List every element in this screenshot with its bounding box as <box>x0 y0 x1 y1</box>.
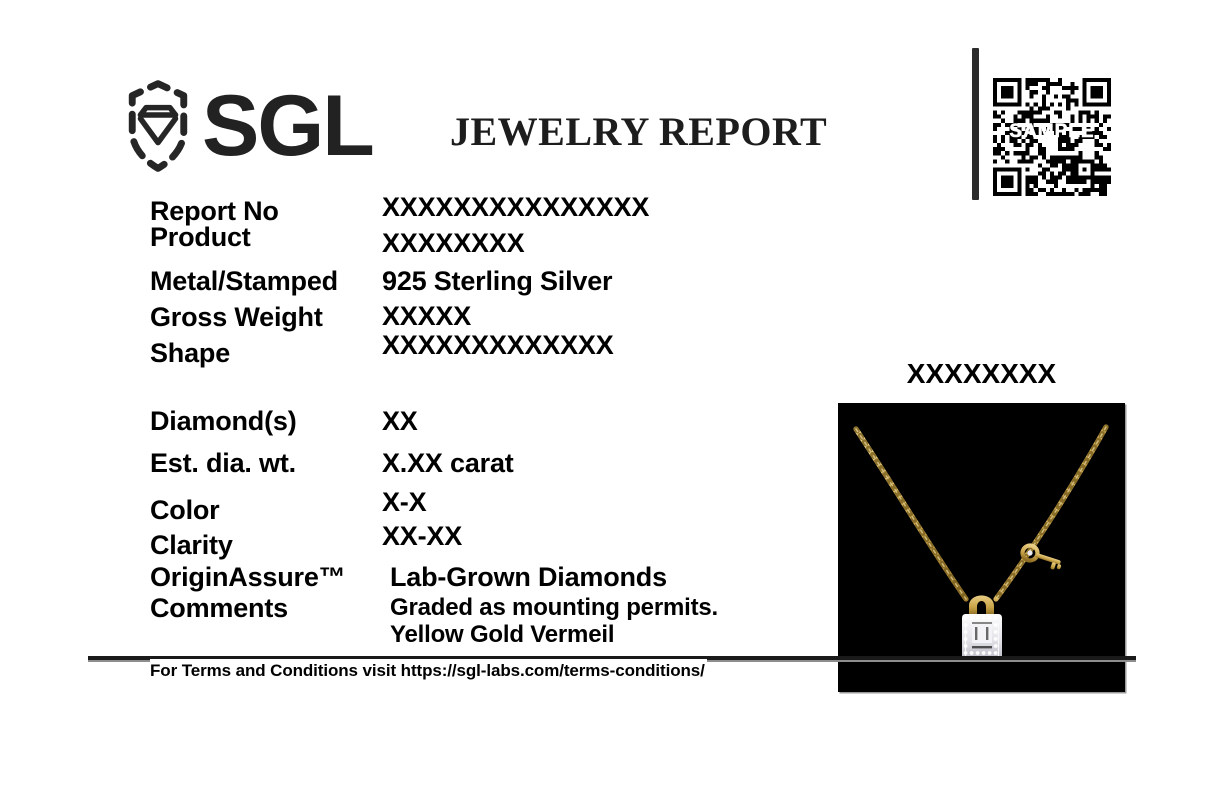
gold-necklace-padlock-pendant-icon <box>838 403 1125 692</box>
field-value: XXXXX <box>382 301 471 332</box>
field-row-metal-stamped: Metal/Stamped 925 Sterling Silver <box>150 266 850 302</box>
field-row-product: Product XXXXXXXX <box>150 228 850 266</box>
field-value: XXXXXXXXXXXXXXX <box>382 192 649 223</box>
field-value: XXXXXXXXXXXXX <box>382 330 614 361</box>
product-photo <box>838 403 1125 692</box>
footer-terms-text: For Terms and Conditions visit https://s… <box>150 659 707 681</box>
field-row-clarity: Clarity XX-XX <box>150 526 850 562</box>
field-label: Metal/Stamped <box>150 266 382 297</box>
field-value: Graded as mounting permits. <box>382 594 718 622</box>
field-value: XXXXXXXX <box>382 228 524 259</box>
page-title: JEWELRY REPORT <box>450 108 827 155</box>
product-caption: XXXXXXXX <box>838 358 1125 390</box>
field-label: OriginAssure™ <box>150 562 382 593</box>
field-value: XX <box>382 406 418 437</box>
field-label: Clarity <box>150 530 382 561</box>
field-row-color: Color X-X <box>150 490 850 526</box>
field-label: Product <box>150 222 382 253</box>
logo-wordmark: SGL <box>202 88 373 165</box>
field-value: 925 Sterling Silver <box>382 266 612 297</box>
field-row-originassure: OriginAssure™ Lab-Grown Diamonds <box>150 562 850 597</box>
comments-second-line: Yellow Gold Vermeil <box>150 621 850 649</box>
report-fields: Report No XXXXXXXXXXXXXXX Product XXXXXX… <box>150 192 850 655</box>
field-label: Diamond(s) <box>150 406 382 437</box>
sgl-logo: SGL <box>112 78 373 174</box>
field-label: Comments <box>150 593 382 624</box>
field-label: Shape <box>150 338 382 369</box>
field-row-est-dia-wt: Est. dia. wt. X.XX carat <box>150 448 850 490</box>
shield-diamond-icon <box>112 78 204 174</box>
field-row-shape: Shape XXXXXXXXXXXXX <box>150 334 850 368</box>
field-value: X.XX carat <box>382 448 514 479</box>
field-value: X-X <box>382 487 426 518</box>
section-spacer <box>150 368 850 406</box>
field-label: Gross Weight <box>150 302 382 333</box>
jewelry-report-page: SGL JEWELRY REPORT SAMPLE Report No XXXX… <box>0 0 1224 786</box>
field-row-diamonds: Diamond(s) XX <box>150 406 850 448</box>
field-label: Est. dia. wt. <box>150 448 382 479</box>
field-value: Lab-Grown Diamonds <box>382 562 667 593</box>
vertical-divider-bar <box>972 48 979 200</box>
field-value: XX-XX <box>382 521 462 552</box>
field-label: Color <box>150 495 382 526</box>
qr-code-icon[interactable]: SAMPLE <box>993 78 1111 196</box>
qr-code-block: SAMPLE <box>972 48 1111 200</box>
